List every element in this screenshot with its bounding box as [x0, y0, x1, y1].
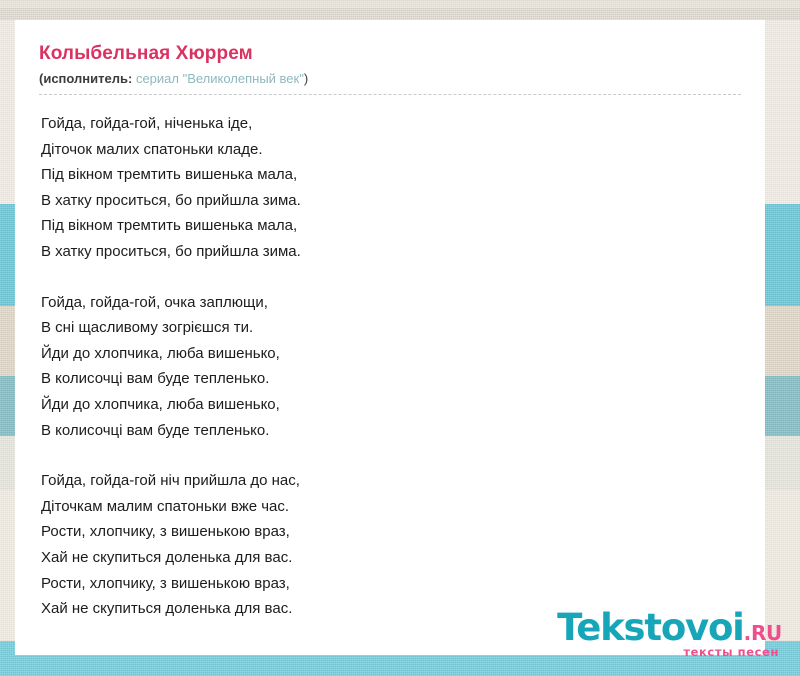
lyric-line: В колисочці вам буде тепленько.	[41, 418, 741, 444]
performer-line: (исполнитель: сериал "Великолепный век")	[39, 70, 741, 88]
lyric-line: В хатку проситься, бо прийшла зима.	[41, 188, 741, 214]
lyric-line: В сні щасливому зогрієшся ти.	[41, 315, 741, 341]
song-header: Колыбельная Хюррем (исполнитель: сериал …	[15, 20, 765, 88]
performer-label: (исполнитель:	[39, 71, 132, 86]
lyric-line: Гойда, гойда-гой, очка заплющи,	[41, 290, 741, 316]
lyric-line: Гойда, гойда-гой, ніченька іде,	[41, 111, 741, 137]
lyric-line: Рости, хлопчику, з вишенькою враз,	[41, 519, 741, 545]
lyric-line: Йди до хлопчика, люба вишенько,	[41, 341, 741, 367]
page-title: Колыбельная Хюррем	[39, 42, 741, 66]
lyric-line: Діточок малих спатоньки кладе.	[41, 137, 741, 163]
performer-close-paren: )	[304, 71, 308, 86]
lyrics-stanza: Гойда, гойда-гой, очка заплющи, В сні ща…	[41, 290, 741, 444]
lyric-line: Рости, хлопчику, з вишенькою враз,	[41, 571, 741, 597]
site-logo[interactable]: Tekstovoi.RU тексты песен	[557, 609, 782, 659]
lyric-line: Під вікном тремтить вишенька мала,	[41, 213, 741, 239]
lyric-line: Гойда, гойда-гой ніч прийшла до нас,	[41, 468, 741, 494]
lyrics-card: Колыбельная Хюррем (исполнитель: сериал …	[15, 20, 765, 655]
logo-name: Tekstovoi	[557, 609, 744, 646]
performer-link[interactable]: сериал "Великолепный век"	[136, 71, 304, 86]
lyric-line: Під вікном тремтить вишенька мала,	[41, 162, 741, 188]
lyric-line: В колисочці вам буде тепленько.	[41, 366, 741, 392]
logo-wordmark: Tekstovoi.RU	[557, 609, 782, 646]
lyric-line: Хай не скупиться доленька для вас.	[41, 545, 741, 571]
lyrics-body: Гойда, гойда-гой, ніченька іде, Діточок …	[15, 95, 765, 622]
lyric-line: В хатку проситься, бо прийшла зима.	[41, 239, 741, 265]
logo-tld: .RU	[744, 623, 782, 643]
page-background: Колыбельная Хюррем (исполнитель: сериал …	[0, 0, 800, 676]
lyric-line: Йди до хлопчика, люба вишенько,	[41, 392, 741, 418]
lyrics-stanza: Гойда, гойда-гой, ніченька іде, Діточок …	[41, 111, 741, 265]
lyrics-stanza: Гойда, гойда-гой ніч прийшла до нас, Діт…	[41, 468, 741, 622]
lyric-line: Діточкам малим спатоньки вже час.	[41, 494, 741, 520]
